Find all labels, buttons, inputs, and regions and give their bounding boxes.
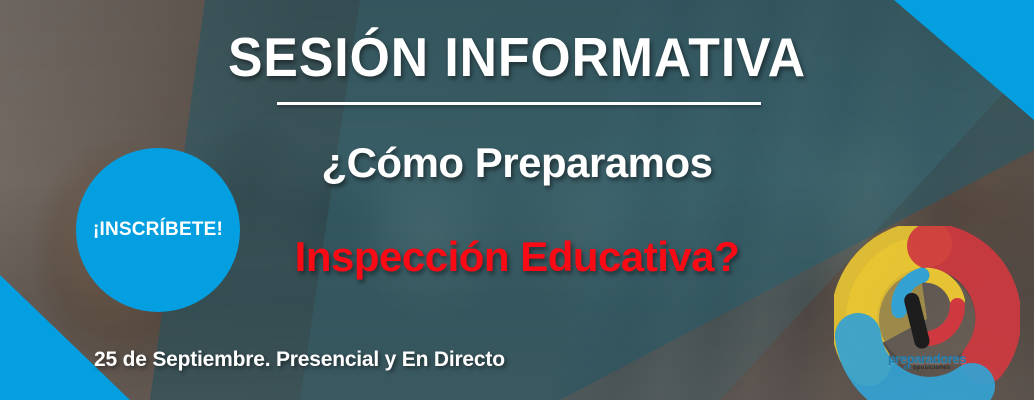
event-date-and-format: 25 de Septiembre. Presencial y En Direct…: [94, 348, 505, 372]
logo-wordmark: preparadores de oposiciones: [884, 265, 970, 373]
brand-logo[interactable]: preparadores de oposiciones: [834, 226, 1020, 400]
event-promo-banner: SESIÓN INFORMATIVA ¿Cómo Preparamos Insp…: [0, 0, 1034, 400]
logo-brand-name: preparadores: [884, 352, 970, 365]
register-badge-button[interactable]: ¡INSCRÍBETE!: [76, 148, 240, 312]
logo-tagline-prefix: de: [904, 365, 911, 371]
page-title: SESIÓN INFORMATIVA: [31, 30, 1003, 85]
logo-swirl-icon: [884, 265, 970, 351]
register-badge-label: ¡INSCRÍBETE!: [93, 219, 223, 241]
title-underline-divider: [277, 102, 761, 105]
logo-tagline: de oposiciones: [884, 365, 970, 373]
logo-tagline-text: oposiciones: [913, 365, 950, 371]
